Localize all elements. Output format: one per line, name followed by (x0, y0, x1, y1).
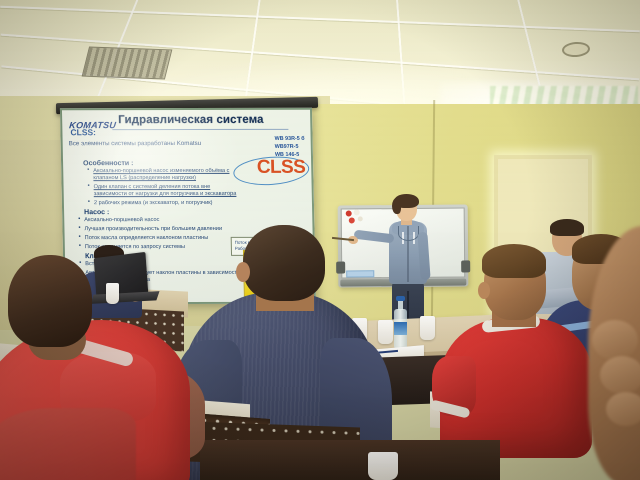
slide-section-heading: Насос : (84, 209, 240, 216)
slide-bullet: Аксиально-поршневой насос изменяемого об… (87, 168, 239, 183)
ceiling-grid-line (0, 6, 640, 33)
presenter (372, 196, 442, 326)
foreground-red-shape (0, 408, 136, 480)
magnet-icon (346, 210, 352, 216)
magnet-icon (358, 216, 363, 221)
magnet-icon (349, 217, 355, 223)
finger (600, 356, 640, 394)
presenter-right-arm (417, 232, 430, 281)
attendee-red-right-hair (482, 244, 546, 278)
title-underline (112, 129, 288, 130)
presenter-lanyard (398, 226, 419, 241)
slide-bullet: Поток масла определяется наклоном пласти… (79, 235, 241, 243)
slide-subtitle-label: CLSS: (70, 127, 96, 137)
slide-body: Особенности : Аксиально-поршневой насос … (67, 150, 242, 286)
water-bottle-cap (396, 296, 405, 301)
attendee-center-ear (236, 262, 250, 282)
clss-logo: CLSS (257, 158, 306, 177)
finger (592, 320, 638, 360)
attendee-red-right-ear (478, 282, 490, 299)
paper-cup (378, 320, 393, 344)
slide-bullet: Аксиально-поршневой насос (78, 217, 240, 225)
finger (606, 392, 640, 426)
attendee-center-head (243, 225, 325, 301)
whiteboard-corner-bracket (336, 262, 345, 274)
slide-bullet: Лучшая производительность при большем да… (78, 226, 240, 234)
slide-title: Гидравлическая система (118, 114, 264, 126)
attendee-red-left-head (8, 255, 92, 347)
slide-model: WB 93R-5 б (275, 136, 305, 144)
ceiling-speaker-icon (562, 41, 591, 58)
slide-bullet: Один клапан с системой деления потока вн… (88, 184, 240, 199)
magnet-icon (354, 209, 360, 215)
foreground-table (200, 440, 500, 480)
presenter-hair (392, 198, 401, 214)
attendee-light-blue-hair (550, 219, 584, 236)
water-bottle-neck (398, 300, 403, 310)
paper-cup (420, 316, 435, 340)
slide-section-heading: Особенности : (83, 160, 239, 167)
paper-cup (368, 452, 398, 480)
training-room-photo: KOMATSU Гидравлическая система CLSS: Все… (0, 0, 640, 480)
water-bottle-label (394, 322, 407, 335)
whiteboard-note (346, 270, 374, 277)
slide-bullet: 2 рабочих режима (и экскаватор, и погруз… (88, 200, 240, 208)
slide-model: WB97R-5 (275, 144, 305, 152)
paper-cup (106, 283, 119, 304)
slide-lead-text: Все элементы системы разработаны Komatsu (69, 140, 229, 148)
whiteboard-corner-bracket (461, 260, 470, 272)
